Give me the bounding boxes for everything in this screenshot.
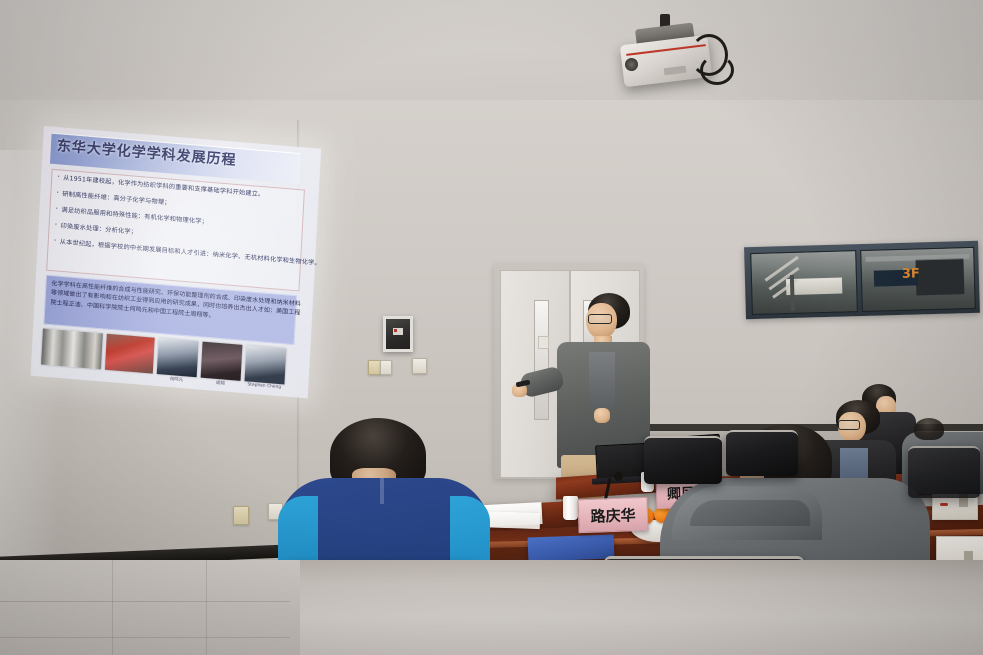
panel-indicator-light (394, 329, 397, 332)
attendee-far-right-hair (914, 418, 944, 440)
slide-photo-3-portrait (157, 338, 199, 377)
attendee-blue-collar-seam (380, 478, 384, 504)
window-pane-right: 3F (860, 247, 976, 312)
floor-grout-3 (112, 560, 113, 655)
window-dark-panel (915, 258, 964, 295)
nameplate-lu-qinghua: 路庆华 (577, 497, 648, 533)
slide-photo-5-portrait (244, 345, 286, 384)
chair-rear-1[interactable] (644, 436, 722, 484)
paper-cup-1 (563, 496, 578, 520)
presenter-sweater-front (589, 352, 615, 408)
blue-folder[interactable] (528, 535, 615, 562)
door-sign (538, 336, 549, 349)
chair-rear-2[interactable] (726, 430, 798, 476)
door-left-vision-panel (534, 300, 549, 420)
chair-rear-3[interactable] (908, 446, 980, 498)
floor-sign-text: 3F (902, 267, 920, 280)
presenter-glasses (588, 314, 612, 324)
floor-grout-4 (206, 560, 207, 655)
slide-photo-4-portrait (201, 342, 243, 381)
wall-data-port[interactable] (412, 358, 427, 374)
window-pane-left (750, 250, 858, 315)
slide-photo-1-fibers (41, 329, 103, 370)
floor-grout-2 (0, 636, 290, 638)
wall-outlet-2[interactable] (380, 360, 392, 375)
projector-cable-loop (700, 55, 734, 85)
wall-control-panel[interactable] (383, 316, 413, 352)
seminar-room-photo: 东华大学化学学科发展历程 从1951年建校起，化学作为纺织学科的重要和支撑基础学… (0, 0, 983, 655)
projected-slide: 东华大学化学学科发展历程 从1951年建校起，化学作为纺织学科的重要和支撑基础学… (30, 126, 321, 400)
nameplate-text-1: 路庆华 (590, 504, 636, 527)
tissue-box-accent-1 (940, 503, 948, 506)
attendee-eyeglasses (838, 420, 860, 430)
floor-grout-1 (0, 600, 290, 602)
table-microphone[interactable] (614, 472, 623, 481)
wall-outlet-3[interactable] (233, 506, 249, 525)
slide-photo-2-textile (105, 334, 155, 374)
interior-window: 3F (744, 241, 980, 320)
presenter-right-hand (594, 408, 610, 423)
floor-left (0, 560, 300, 655)
projector-lens (625, 58, 638, 71)
attendee-gray-hood-inner (690, 500, 810, 526)
